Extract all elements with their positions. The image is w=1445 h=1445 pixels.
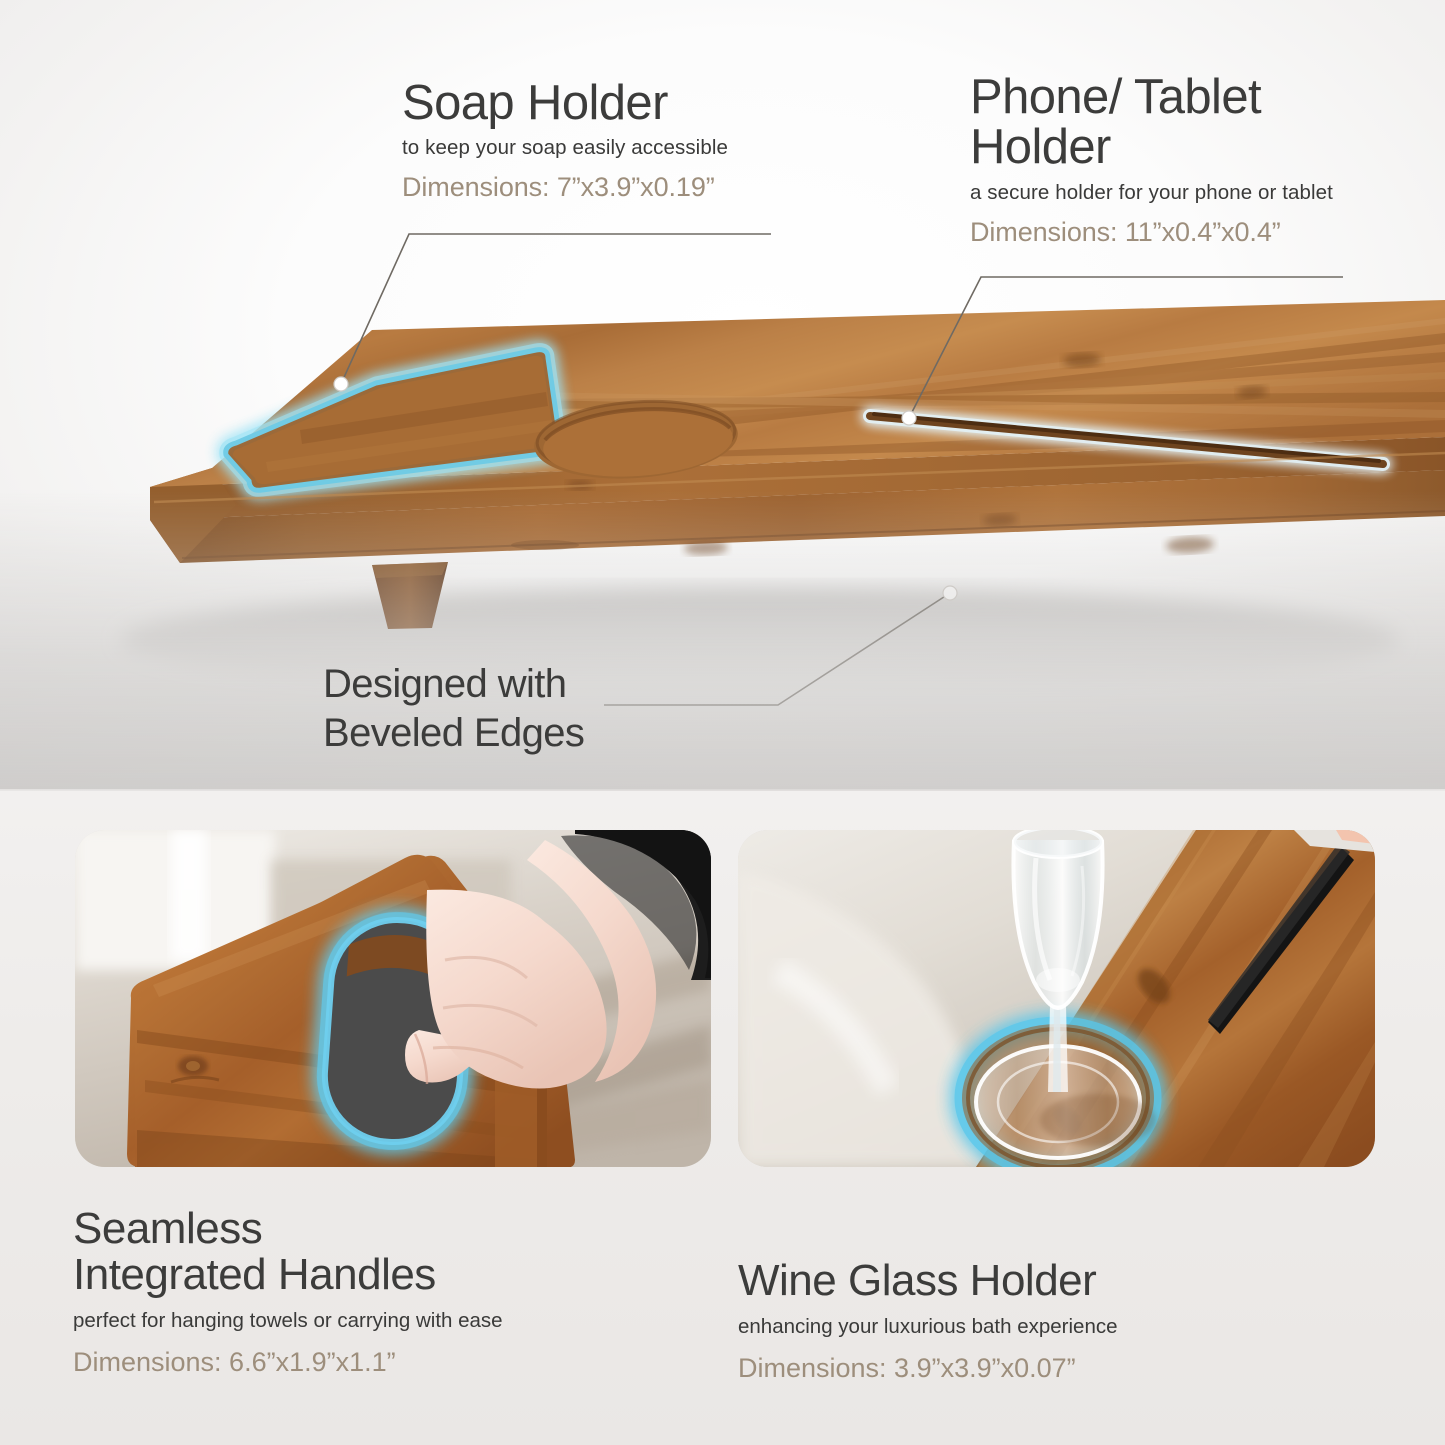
caption-dimensions-handles: Dimensions: 6.6”x1.9”x1.1”	[73, 1346, 503, 1378]
product-feature-infographic: Soap Holder to keep your soap easily acc…	[0, 0, 1445, 1445]
hand-gripping-board-handle-photo	[75, 830, 711, 1167]
callout-title-bevel: Designed with Beveled Edges	[323, 660, 584, 758]
callout-dimensions-soap: Dimensions: 7”x3.9”x0.19”	[402, 171, 728, 203]
caption-title-wine: Wine Glass Holder	[738, 1258, 1118, 1304]
callout-dimensions-phone: Dimensions: 11”x0.4”x0.4”	[970, 216, 1333, 248]
bottom-panel: Seamless Integrated Handles perfect for …	[0, 791, 1445, 1445]
caption-dimensions-wine: Dimensions: 3.9”x3.9”x0.07”	[738, 1352, 1118, 1384]
caption-subtitle-wine: enhancing your luxurious bath experience	[738, 1314, 1118, 1341]
wine-glass-in-recess-photo	[738, 830, 1375, 1167]
callout-title-soap: Soap Holder	[402, 78, 728, 128]
callout-soap-holder: Soap Holder to keep your soap easily acc…	[402, 78, 728, 204]
caption-seamless-integrated-handles: Seamless Integrated Handles perfect for …	[73, 1206, 503, 1379]
caption-title-handles: Seamless Integrated Handles	[73, 1206, 503, 1298]
photo-card-wine	[738, 830, 1375, 1167]
photo-card-handles	[75, 830, 711, 1167]
caption-subtitle-handles: perfect for hanging towels or carrying w…	[73, 1308, 503, 1335]
callout-phone-tablet-holder: Phone/ Tablet Holder a secure holder for…	[970, 72, 1333, 248]
callout-subtitle-phone: a secure holder for your phone or tablet	[970, 180, 1333, 207]
caption-wine-glass-holder: Wine Glass Holder enhancing your luxurio…	[738, 1258, 1118, 1385]
hero-panel: Soap Holder to keep your soap easily acc…	[0, 0, 1445, 790]
callout-title-phone: Phone/ Tablet Holder	[970, 72, 1333, 173]
callout-beveled-edges: Designed with Beveled Edges	[323, 660, 584, 758]
callout-subtitle-soap: to keep your soap easily accessible	[402, 135, 728, 162]
